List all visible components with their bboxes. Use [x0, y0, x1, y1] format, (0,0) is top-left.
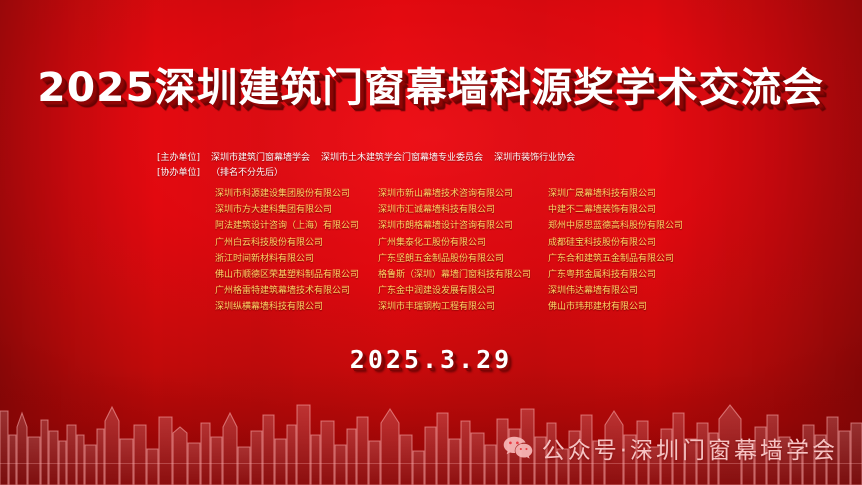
sponsor-name: 深圳市科源建设集团股份有限公司: [215, 186, 378, 202]
sponsor-name: 深圳市丰瑞钢构工程有限公司: [378, 299, 548, 315]
cohost-line: [协办单位]（排名不分先后）: [157, 166, 575, 181]
sponsor-name: 格鲁斯（深圳）幕墙门窗科技有限公司: [378, 267, 548, 283]
sponsor-grid: 深圳市科源建设集团股份有限公司深圳市新山幕墙技术咨询有限公司深圳广晟幕墙科技有限…: [215, 186, 685, 316]
sponsor-name: 深圳市汇诚幕墙科技有限公司: [378, 202, 548, 218]
sponsor-name: 深圳广晟幕墙科技有限公司: [548, 186, 685, 202]
event-date: 2025.3.29: [0, 345, 862, 374]
sponsor-name: 浙江时间新材料有限公司: [215, 251, 378, 267]
poster-canvas: 2025深圳建筑门窗幕墙科源奖学术交流会 [主办单位]深圳市建筑门窗幕墙学会深圳…: [0, 0, 862, 485]
host-name-1: 深圳市土木建筑学会门窗幕墙专业委员会: [321, 153, 483, 163]
sponsor-name: 佛山市玮邦建材有限公司: [548, 299, 685, 315]
host-name-2: 深圳市装饰行业协会: [494, 153, 575, 163]
sponsor-name: 成都硅宝科技股份有限公司: [548, 235, 685, 251]
sponsor-name: 郑州中原思蓝德高科股份有限公司: [548, 218, 685, 234]
sponsor-name: 深圳纵横幕墙科技有限公司: [215, 299, 378, 315]
poster-title: 2025深圳建筑门窗幕墙科源奖学术交流会: [38, 55, 825, 113]
sponsor-name: 深圳市新山幕墙技术咨询有限公司: [378, 186, 548, 202]
sponsor-name: 广州集泰化工股份有限公司: [378, 235, 548, 251]
sponsor-name: 广东金中润建设发展有限公司: [378, 283, 548, 299]
organizer-block: [主办单位]深圳市建筑门窗幕墙学会深圳市土木建筑学会门窗幕墙专业委员会深圳市装饰…: [157, 151, 575, 181]
sponsor-name: 广州格雷特建筑幕墙技术有限公司: [215, 283, 378, 299]
host-name-0: 深圳市建筑门窗幕墙学会: [211, 153, 310, 163]
sponsor-name: 深圳市方大建科集团有限公司: [215, 202, 378, 218]
sponsor-name: 广东坚朗五金制品股份有限公司: [378, 251, 548, 267]
sponsor-name: 深圳市朗格幕墙设计咨询有限公司: [378, 218, 548, 234]
sponsor-name: 深圳伟达幕墙有限公司: [548, 283, 685, 299]
wechat-icon: [503, 435, 533, 461]
sponsor-name: 佛山市顺德区荣基塑料制品有限公司: [215, 267, 378, 283]
sponsor-name: 中建不二幕墙装饰有限公司: [548, 202, 685, 218]
wechat-account-footer: 公众号·深圳门窗幕墙学会: [503, 431, 838, 465]
sponsor-name: 广东粤邦金属科技有限公司: [548, 267, 685, 283]
host-line: [主办单位]深圳市建筑门窗幕墙学会深圳市土木建筑学会门窗幕墙专业委员会深圳市装饰…: [157, 151, 575, 166]
sponsor-name: 广州白云科技股份有限公司: [215, 235, 378, 251]
host-tag-label: [主办单位]: [157, 153, 200, 163]
cohost-note-label: （排名不分先后）: [211, 168, 283, 178]
poster-title-container: 2025深圳建筑门窗幕墙科源奖学术交流会: [0, 55, 862, 113]
sponsor-name: 阿法建筑设计咨询（上海）有限公司: [215, 218, 378, 234]
wechat-account-label: 公众号·深圳门窗幕墙学会: [542, 431, 838, 465]
cohost-tag-label: [协办单位]: [157, 168, 200, 178]
city-skyline-graphic: [0, 365, 862, 485]
sponsor-name: 广东合和建筑五金制品有限公司: [548, 251, 685, 267]
